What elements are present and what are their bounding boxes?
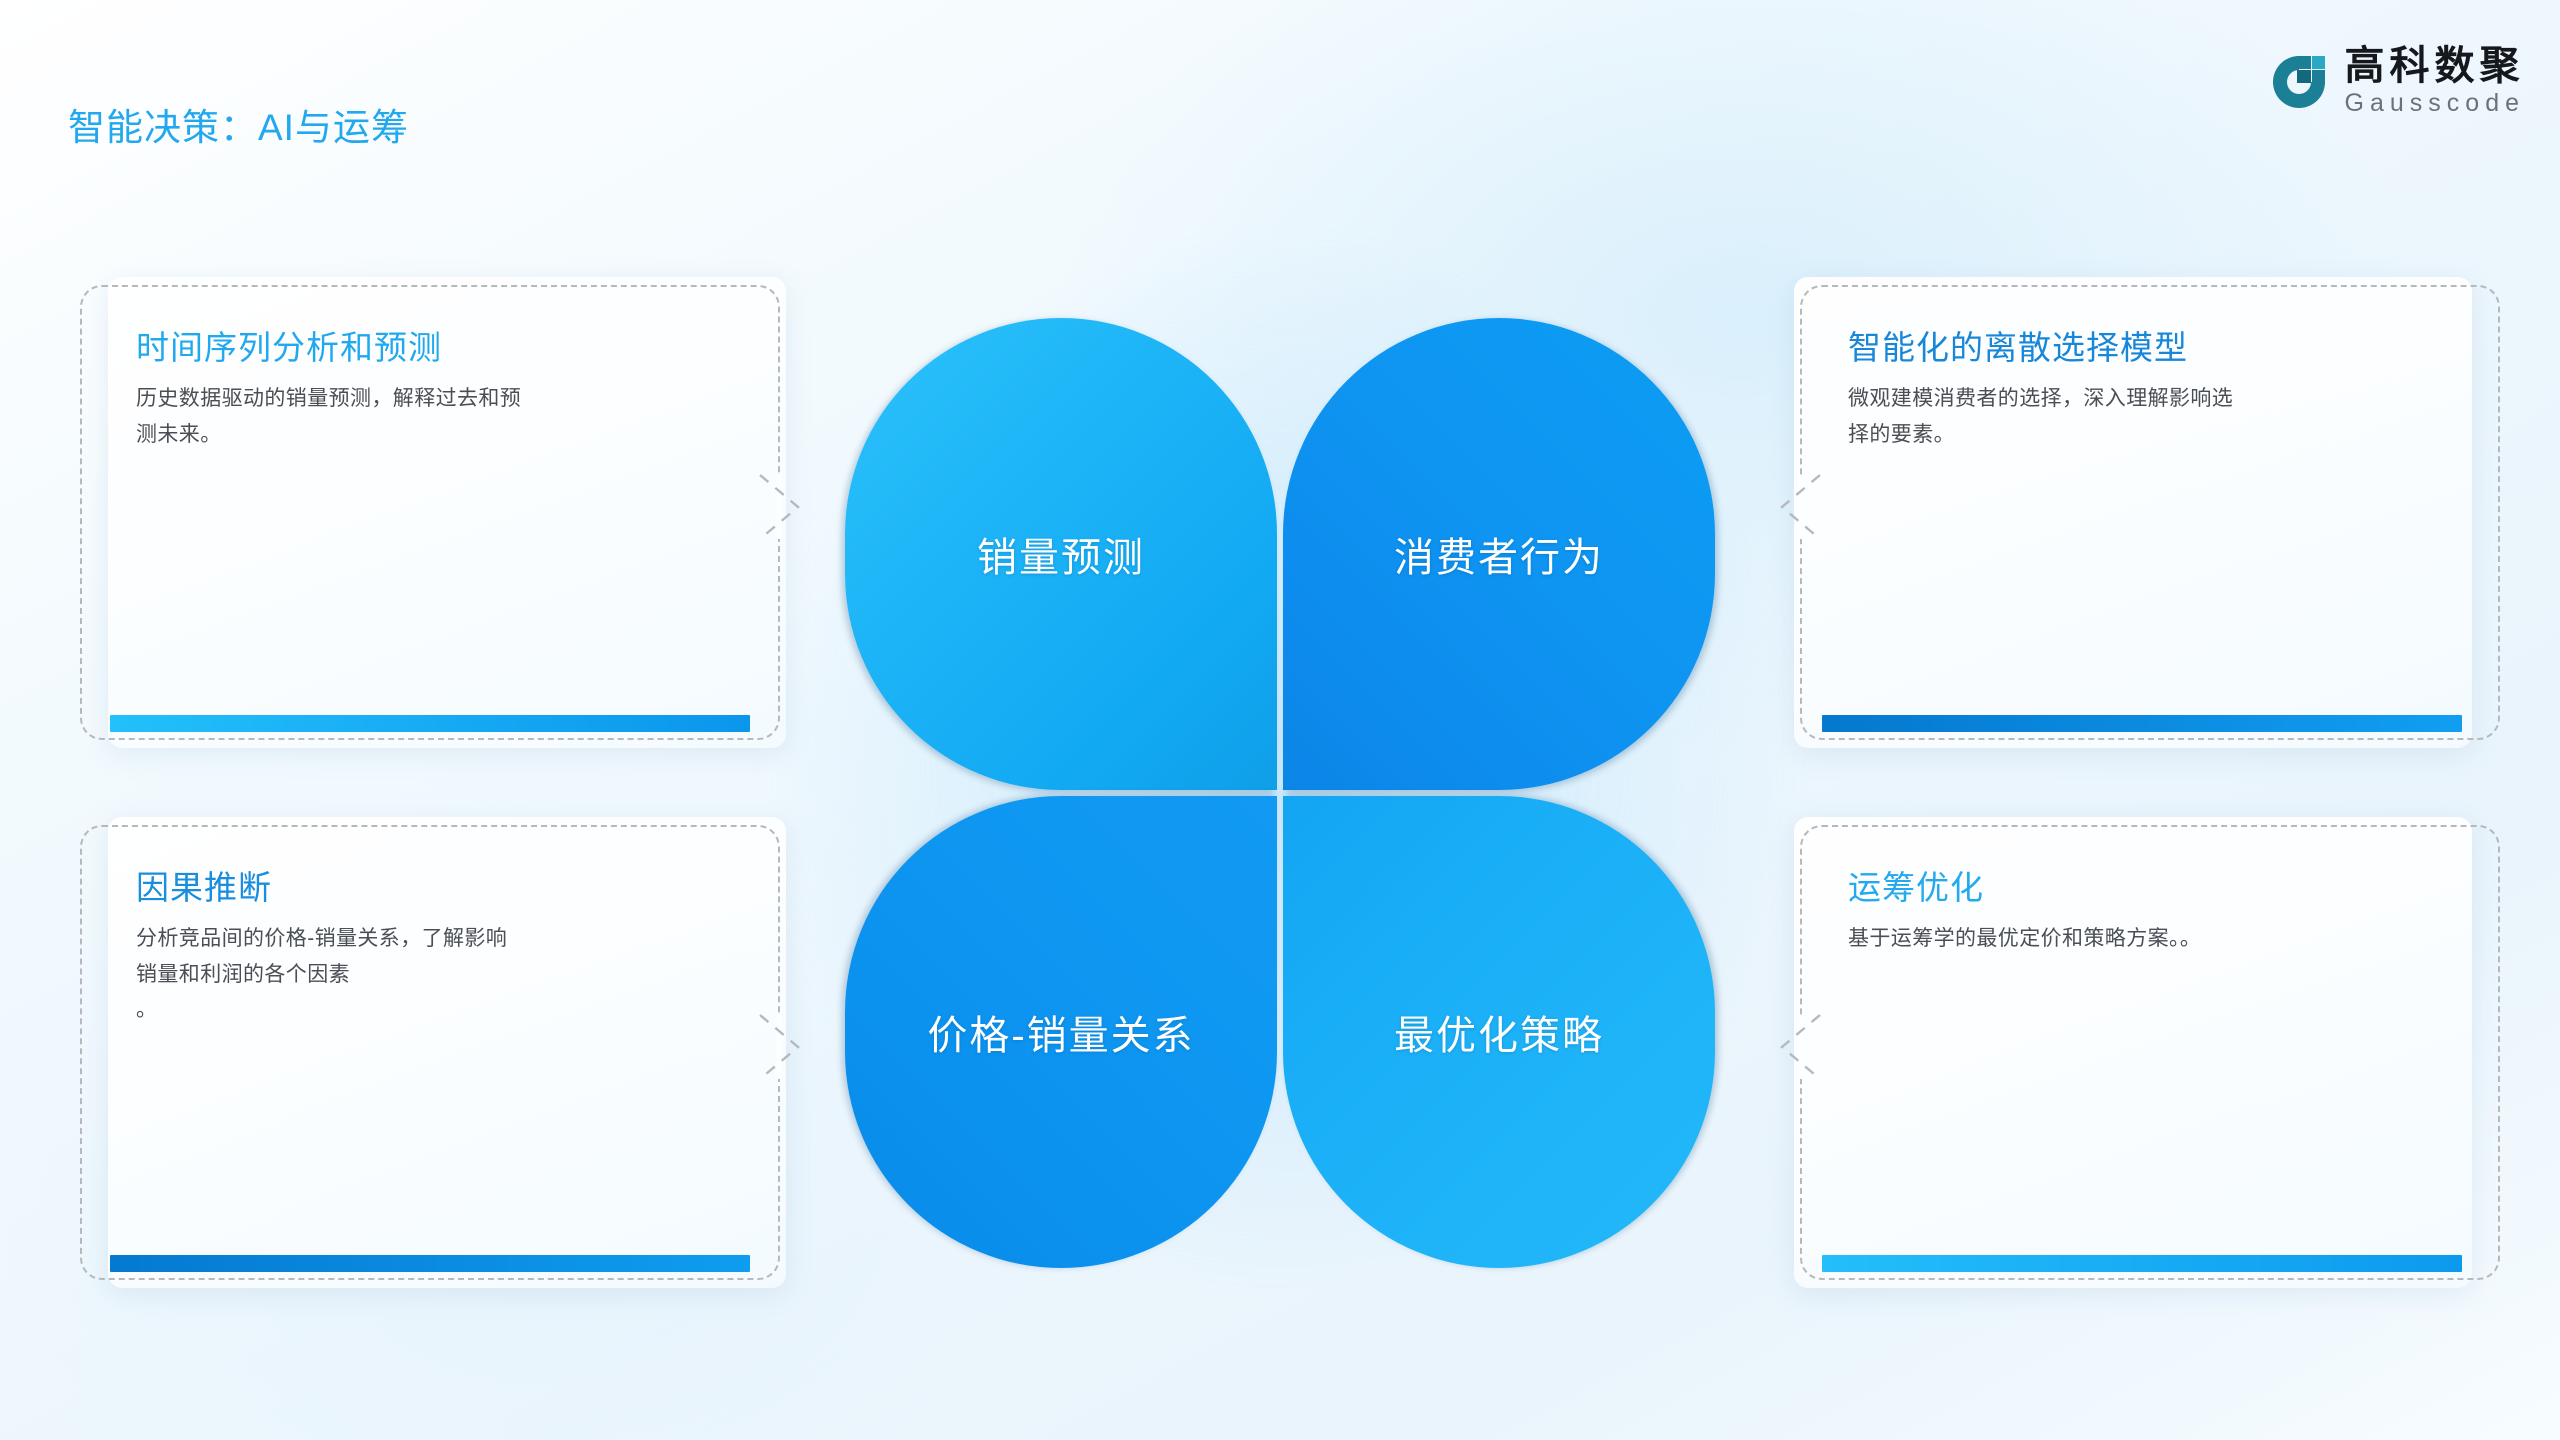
brand-logo: 高科数聚 Gausscode xyxy=(2269,45,2525,118)
petal-label: 最优化策略 xyxy=(1394,1003,1604,1061)
card-accent-bar xyxy=(110,1255,750,1272)
brand-text: 高科数聚 Gausscode xyxy=(2345,45,2525,118)
page-title: 智能决策：AI与运筹 xyxy=(68,97,409,151)
info-card-discrete-choice[interactable]: 智能化的离散选择模型 微观建模消费者的选择，深入理解影响选 择的要素。 xyxy=(1800,285,2500,740)
petal-diagram: 销量预测 消费者行为 价格-销量关系 最优化策略 xyxy=(845,318,1715,1198)
card-title: 运筹优化 xyxy=(1848,867,2444,909)
card-accent-bar xyxy=(1822,715,2462,732)
info-card-operations-research[interactable]: 运筹优化 基于运筹学的最优定价和策略方案。。 xyxy=(1800,825,2500,1280)
petal-consumer-behavior[interactable]: 消费者行为 xyxy=(1283,318,1715,790)
card-pointer-right-icon xyxy=(758,1011,804,1083)
card-accent-bar xyxy=(1822,1255,2462,1272)
card-title: 时间序列分析和预测 xyxy=(136,327,724,369)
petal-label: 销量预测 xyxy=(977,525,1145,583)
petal-label: 价格-销量关系 xyxy=(927,1003,1194,1061)
card-title: 智能化的离散选择模型 xyxy=(1848,327,2444,369)
card-content: 因果推断 分析竞品间的价格-销量关系，了解影响 销量和利润的各个因素 。 xyxy=(136,867,724,1027)
card-content: 运筹优化 基于运筹学的最优定价和策略方案。。 xyxy=(1848,867,2444,957)
gausscode-logo-icon xyxy=(2269,52,2329,112)
petal-sales-forecast[interactable]: 销量预测 xyxy=(845,318,1277,790)
card-pointer-right-icon xyxy=(758,471,804,543)
card-pointer-left-icon xyxy=(1776,471,1822,543)
card-accent-bar xyxy=(110,715,750,732)
card-content: 智能化的离散选择模型 微观建模消费者的选择，深入理解影响选 择的要素。 xyxy=(1848,327,2444,452)
petal-label: 消费者行为 xyxy=(1394,525,1604,583)
card-body: 历史数据驱动的销量预测，解释过去和预 测未来。 xyxy=(136,381,724,452)
petal-optimal-strategy[interactable]: 最优化策略 xyxy=(1283,796,1715,1268)
info-card-causal-inference[interactable]: 因果推断 分析竞品间的价格-销量关系，了解影响 销量和利润的各个因素 。 xyxy=(80,825,780,1280)
brand-name-en: Gausscode xyxy=(2345,89,2525,118)
brand-name-cn: 高科数聚 xyxy=(2345,45,2525,87)
petal-price-sales[interactable]: 价格-销量关系 xyxy=(845,796,1277,1268)
card-body: 基于运筹学的最优定价和策略方案。。 xyxy=(1848,921,2444,956)
card-body: 微观建模消费者的选择，深入理解影响选 择的要素。 xyxy=(1848,381,2444,452)
card-title: 因果推断 xyxy=(136,867,724,909)
card-body: 分析竞品间的价格-销量关系，了解影响 销量和利润的各个因素 。 xyxy=(136,921,724,1027)
card-content: 时间序列分析和预测 历史数据驱动的销量预测，解释过去和预 测未来。 xyxy=(136,327,724,452)
info-card-time-series[interactable]: 时间序列分析和预测 历史数据驱动的销量预测，解释过去和预 测未来。 xyxy=(80,285,780,740)
card-pointer-left-icon xyxy=(1776,1011,1822,1083)
